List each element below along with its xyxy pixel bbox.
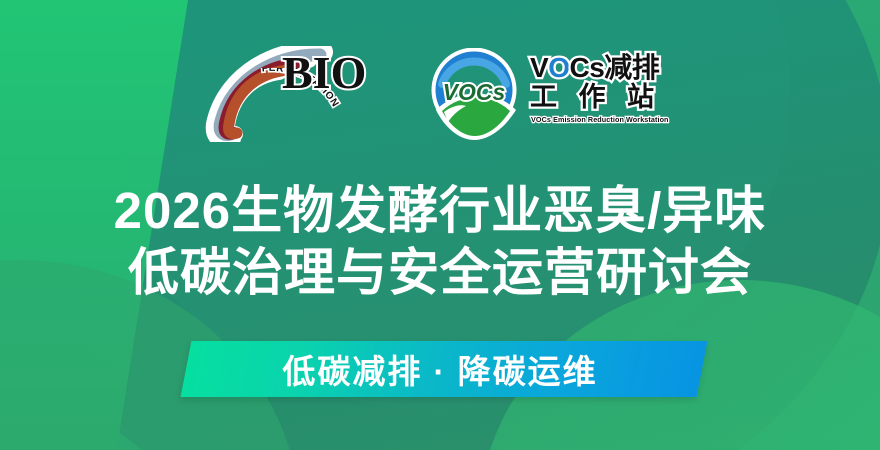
vocs-emblem-label: VOCs [443,79,506,105]
poster-title-line-1: 2026生物发酵行业恶臭/异味 [0,180,880,242]
conference-poster-banner: FERMENTATION BIO VOCs [0,0,880,450]
vocs-title-line2: 工 作 站 [530,83,661,112]
vocs-english-subtitle: VOCs Emission Reduction Workstation [531,115,669,124]
vocs-title-rest: Cs减排 [569,52,659,83]
bio-wordmark: BIO [282,50,366,96]
vocs-text-block: VOCs减排 工 作 站 VOCs Emission Reduction Wor… [530,51,676,137]
vocs-title-line1: VOCs减排 [530,53,659,83]
vocs-workstation-logo: VOCs VOCs减排 工 作 站 VOCs Emission Reductio… [428,46,676,142]
vocs-title-o: O [548,52,569,83]
bio-fermentation-logo: FERMENTATION BIO [204,46,394,142]
vocs-emblem-icon: VOCs [428,48,524,140]
poster-title-line-2: 低碳治理与安全运营研讨会 [0,242,880,304]
vocs-title-v: V [530,52,548,83]
subtitle-banner-label: 低碳减排 · 降碳运维 [0,341,880,397]
poster-title: 2026生物发酵行业恶臭/异味 低碳治理与安全运营研讨会 [0,180,880,304]
logo-row: FERMENTATION BIO VOCs [0,44,880,144]
poster-subtitle-banner: 低碳减排 · 降碳运维 [0,341,880,399]
